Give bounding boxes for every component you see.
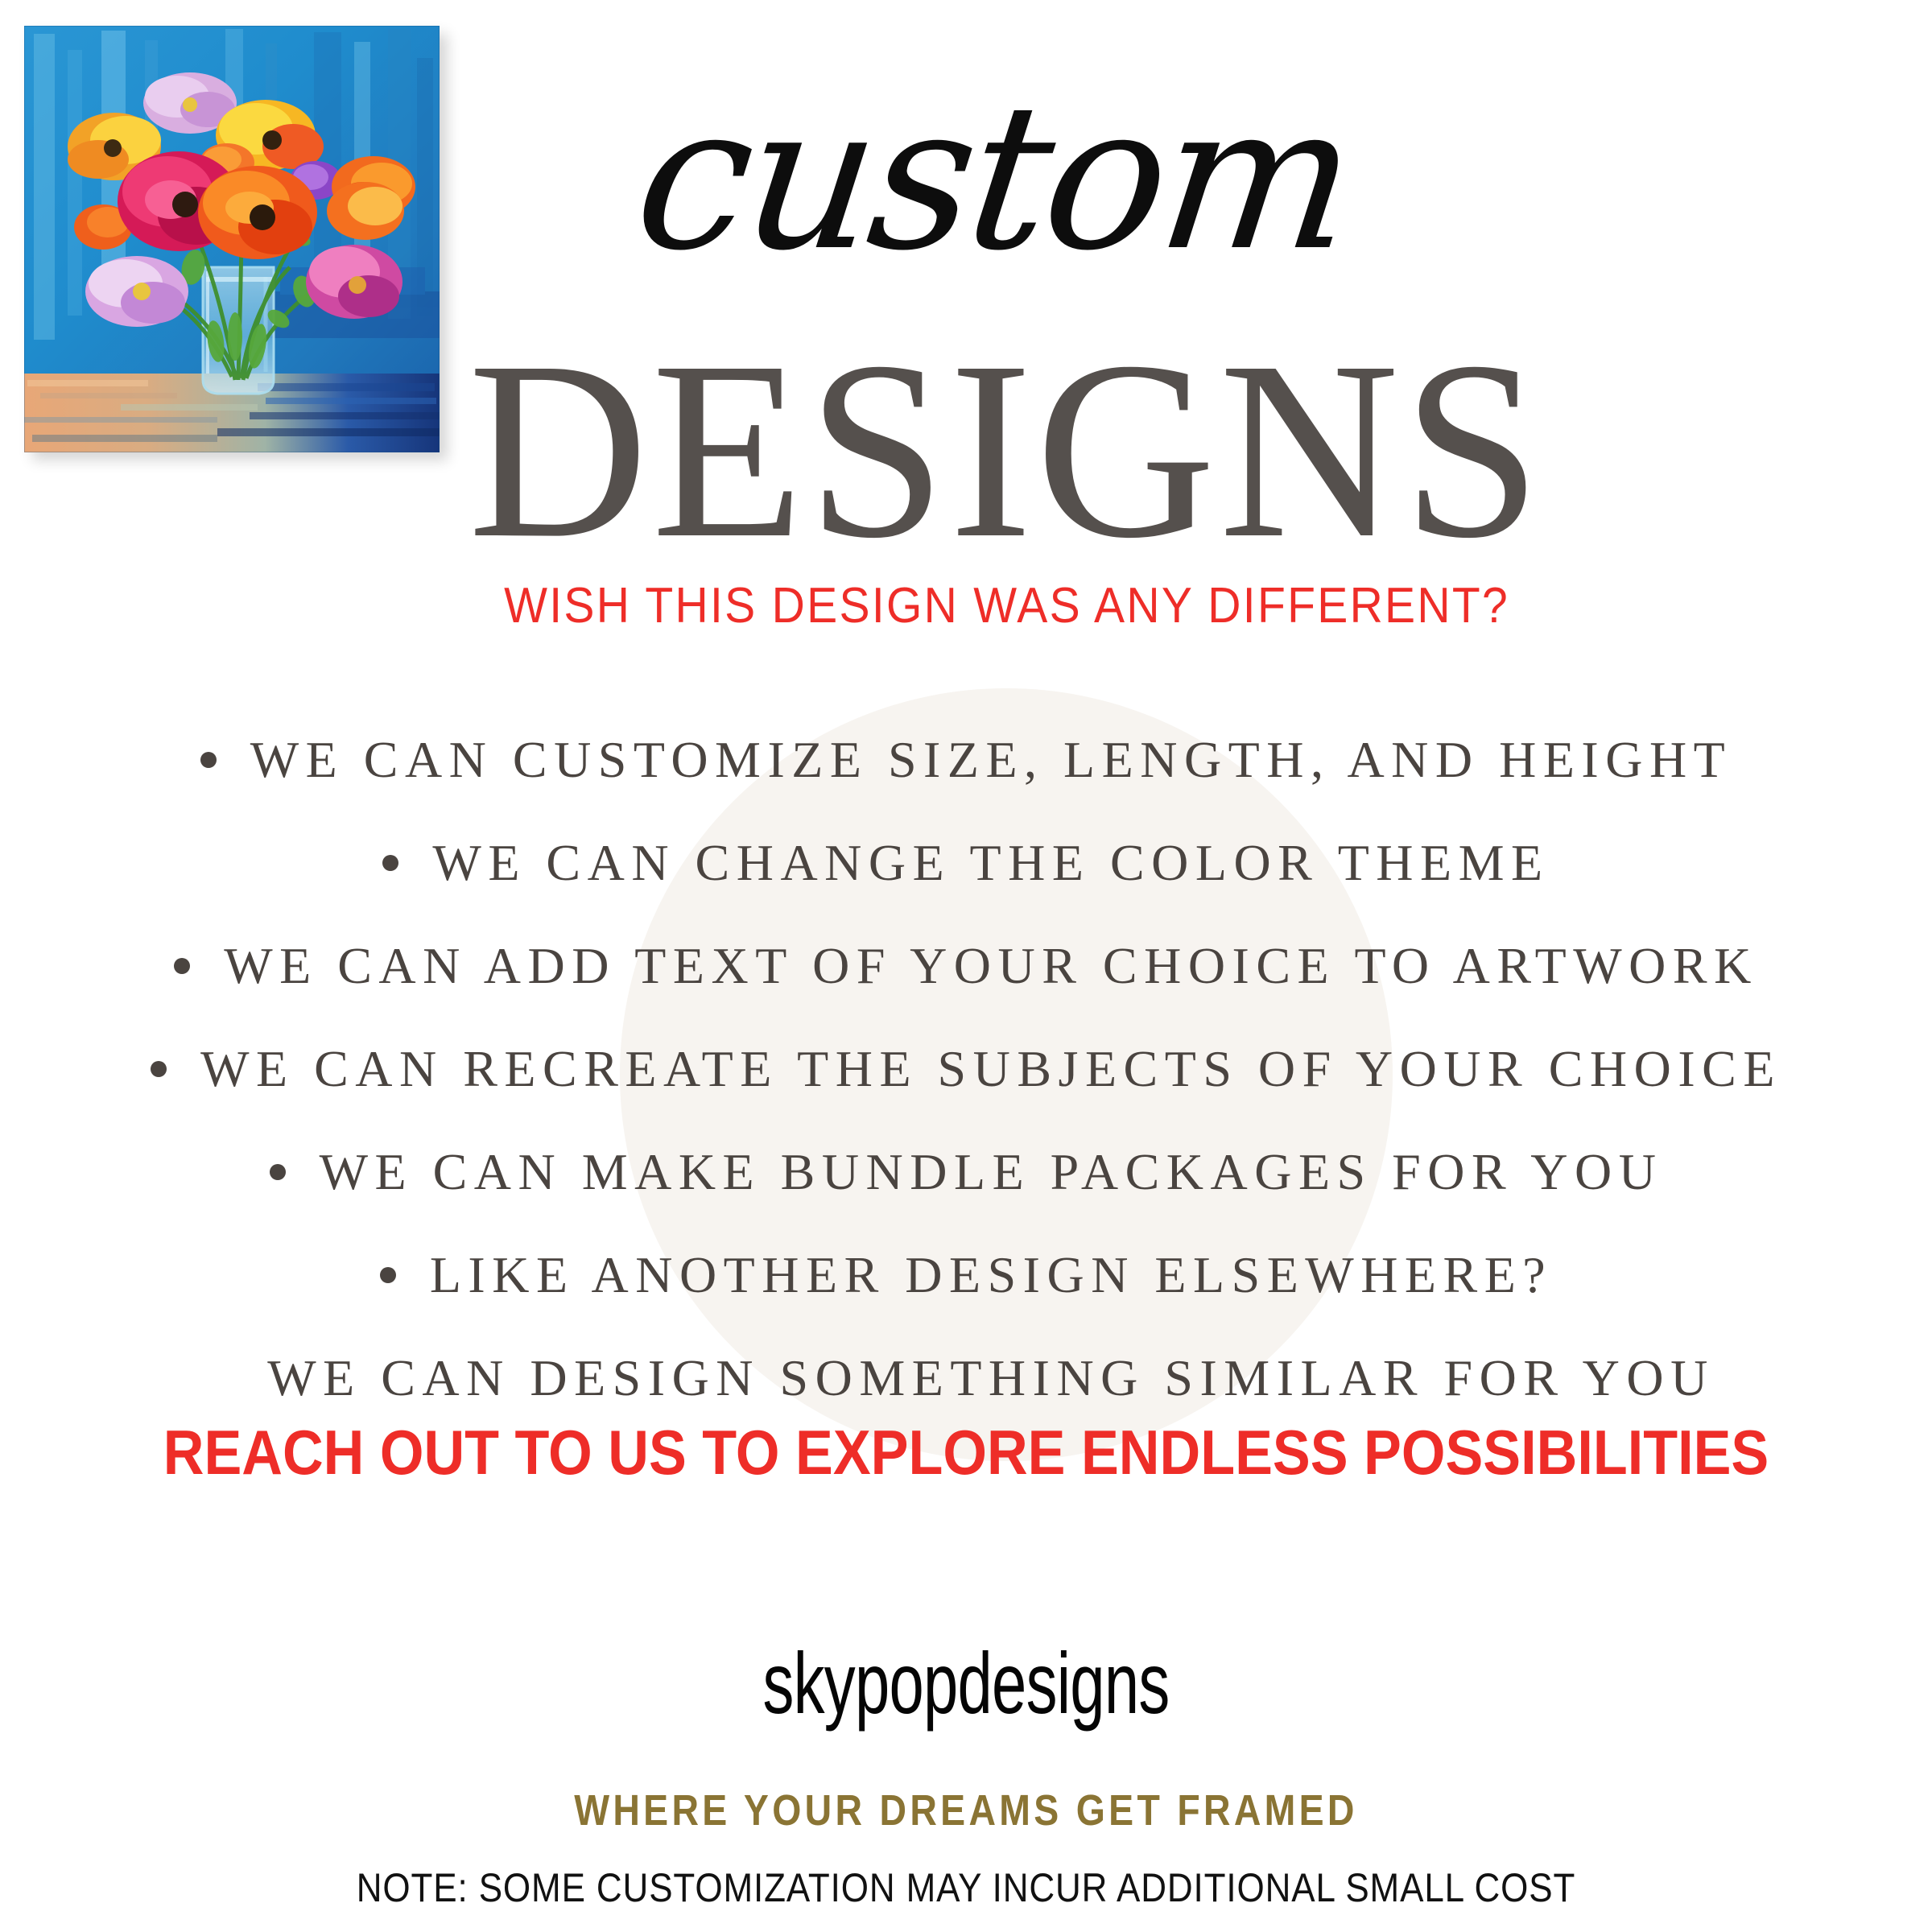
artwork-thumbnail[interactable]: [24, 26, 440, 452]
bullet-dot-icon: [270, 1164, 286, 1180]
bullet-dot-icon: [200, 752, 217, 768]
benefit-label: WE CAN CHANGE THE COLOR THEME: [432, 837, 1549, 889]
list-item: WE CAN CUSTOMIZE SIZE, LENGTH, AND HEIGH…: [0, 708, 1932, 811]
list-item: WE CAN ADD TEXT OF YOUR CHOICE TO ARTWOR…: [0, 914, 1932, 1018]
benefits-list: WE CAN CUSTOMIZE SIZE, LENGTH, AND HEIGH…: [0, 708, 1932, 1430]
bullet-dot-icon: [174, 958, 190, 974]
benefit-label: WE CAN ADD TEXT OF YOUR CHOICE TO ARTWOR…: [224, 940, 1758, 992]
benefit-label: WE CAN DESIGN SOMETHING SIMILAR FOR YOU: [267, 1352, 1715, 1404]
bullet-dot-icon: [380, 1267, 396, 1283]
footer-note: NOTE: SOME CUSTOMIZATION MAY INCUR ADDIT…: [116, 1868, 1816, 1908]
list-item: LIKE ANOTHER DESIGN ELSEWHERE?: [0, 1224, 1932, 1327]
list-item: WE CAN MAKE BUNDLE PACKAGES FOR YOU: [0, 1121, 1932, 1224]
list-item: WE CAN CHANGE THE COLOR THEME: [0, 811, 1932, 914]
list-item-continuation: WE CAN DESIGN SOMETHING SIMILAR FOR YOU: [0, 1327, 1932, 1430]
bullet-dot-icon: [151, 1061, 167, 1077]
subtitle-question: WISH THIS DESIGN WAS ANY DIFFERENT?: [77, 581, 1855, 631]
benefit-label: LIKE ANOTHER DESIGN ELSEWHERE?: [430, 1249, 1552, 1301]
benefit-label: WE CAN MAKE BUNDLE PACKAGES FOR YOU: [320, 1146, 1663, 1198]
floral-painting-illustration: [24, 26, 440, 452]
brand-logo-text: skypopdesigns: [270, 1640, 1662, 1727]
call-to-action-text: REACH OUT TO US TO EXPLORE ENDLESS POSSI…: [97, 1421, 1835, 1484]
list-item: WE CAN RECREATE THE SUBJECTS OF YOUR CHO…: [0, 1018, 1932, 1121]
benefit-label: WE CAN CUSTOMIZE SIZE, LENGTH, AND HEIGH…: [250, 734, 1732, 786]
benefit-label: WE CAN RECREATE THE SUBJECTS OF YOUR CHO…: [200, 1043, 1781, 1095]
bullet-dot-icon: [382, 855, 398, 871]
brand-tagline: WHERE YOUR DREAMS GET FRAMED: [135, 1789, 1797, 1832]
